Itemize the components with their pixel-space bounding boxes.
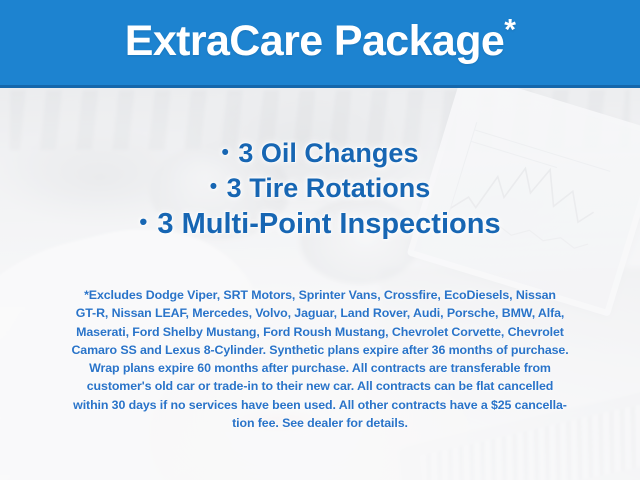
disclaimer-line: *Excludes Dodge Viper, SRT Motors, Sprin… xyxy=(26,286,614,304)
benefit-item-oil-changes: • 3 Oil Changes xyxy=(0,136,640,171)
extracare-package-promo: ExtraCare Package* • 3 Oil Changes • 3 T… xyxy=(0,0,640,480)
header-banner: ExtraCare Package* xyxy=(0,0,640,88)
disclaimer-text: *Excludes Dodge Viper, SRT Motors, Sprin… xyxy=(26,286,614,432)
disclaimer-line: Maserati, Ford Shelby Mustang, Ford Rous… xyxy=(26,323,614,341)
benefit-label: 3 Tire Rotations xyxy=(227,173,431,203)
bullet-dot-icon: • xyxy=(210,175,217,198)
benefit-label: 3 Oil Changes xyxy=(238,138,418,168)
disclaimer-line: tion fee. See dealer for details. xyxy=(26,414,614,432)
disclaimer-line: GT-R, Nissan LEAF, Mercedes, Volvo, Jagu… xyxy=(26,304,614,322)
title-asterisk: * xyxy=(504,13,515,46)
benefit-label: 3 Multi-Point Inspections xyxy=(157,208,500,240)
benefit-item-tire-rotations: • 3 Tire Rotations xyxy=(0,171,640,206)
disclaimer-line: within 30 days if no services have been … xyxy=(26,396,614,414)
disclaimer-line: customer's old car or trade-in to their … xyxy=(26,377,614,395)
disclaimer-line: Wrap plans expire 60 months after purcha… xyxy=(26,359,614,377)
bullet-dot-icon: • xyxy=(139,209,147,234)
page-title: ExtraCare Package* xyxy=(125,20,516,66)
benefits-list: • 3 Oil Changes • 3 Tire Rotations • 3 M… xyxy=(0,136,640,243)
disclaimer-line: Camaro SS and Lexus 8-Cylinder. Syntheti… xyxy=(26,341,614,359)
benefit-item-multi-point-inspections: • 3 Multi-Point Inspections xyxy=(0,206,640,243)
bullet-dot-icon: • xyxy=(222,141,229,164)
page-title-text: ExtraCare Package xyxy=(125,17,504,65)
